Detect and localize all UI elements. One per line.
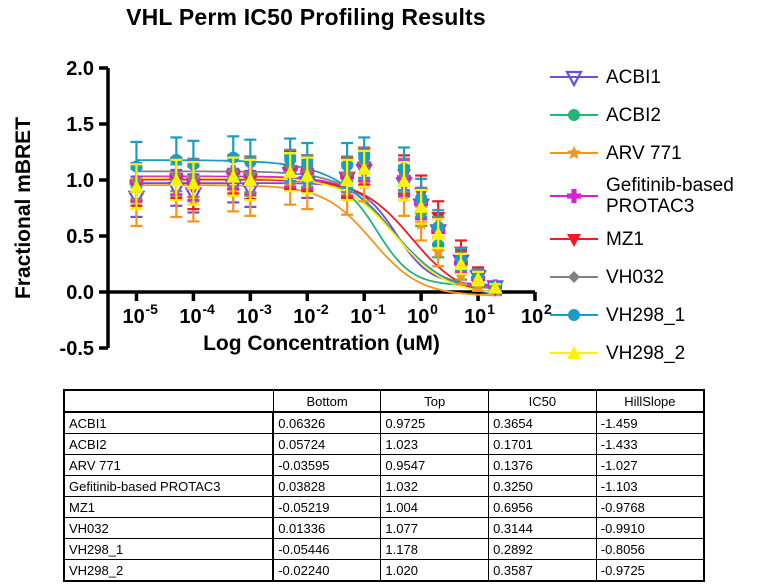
y-axis-title: Fractional mBRET [12,117,35,299]
x-axis-title: Log Concentration (uM) [203,332,440,355]
fit-curve-VH298_2 [137,178,503,293]
table-cell-hillslope: -1.459 [596,412,704,434]
table-cell-top: 1.077 [381,518,489,539]
x-tick-base: 10 [521,306,543,328]
table-cell-hillslope: -1.433 [596,434,704,455]
legend-item-ACBI1[interactable]: ACBI1 [548,58,763,96]
marker-circle [568,309,580,321]
legend-label-VH298_1: VH298_1 [600,305,685,326]
x-tick-label: 10-3 [236,301,272,328]
table-cell-ic50: 0.3250 [489,476,597,497]
table-row: ACBI10.063260.97250.3654-1.459 [64,412,704,434]
legend-item-Gefitinib-based PROTAC3[interactable]: Gefitinib-basedPROTAC3 [548,172,763,220]
table-cell-ic50: 0.1376 [489,455,597,476]
legend-label-ARV 771: ARV 771 [600,143,682,164]
table-row: ARV 771-0.035950.95470.1376-1.027 [64,455,704,476]
table-cell-bottom: 0.03828 [273,476,381,497]
legend-item-VH032[interactable]: VH032 [548,258,763,296]
table-cell-ic50: 0.2892 [489,539,597,560]
table-cell-top: 1.004 [381,497,489,518]
y-tick-label: -0.5 [60,338,94,360]
table-cell-name: ARV 771 [64,455,273,476]
table-cell-hillslope: -0.9768 [596,497,704,518]
table-row: MZ1-0.052191.0040.6956-0.9768 [64,497,704,518]
table-row: ACBI20.057241.0230.1701-1.433 [64,434,704,455]
x-tick-label: 101 [464,301,495,328]
legend-key-VH298_1 [548,302,600,328]
table-cell-bottom: 0.06326 [273,412,381,434]
x-tick-label: 10-4 [179,301,215,328]
table-cell-ic50: 0.6956 [489,497,597,518]
x-tick-label: 100 [407,301,438,328]
legend-label-VH298_2: VH298_2 [600,343,685,364]
table-cell-hillslope: -0.8056 [596,539,704,560]
table-cell-top: 0.9547 [381,455,489,476]
table-cell-top: 1.020 [381,560,489,582]
table-cell-name: VH298_2 [64,560,273,582]
legend-item-MZ1[interactable]: MZ1 [548,220,763,258]
table-header-top: Top [381,390,489,412]
table-cell-top: 0.9725 [381,412,489,434]
table-cell-hillslope: -1.103 [596,476,704,497]
legend-key-VH032 [548,264,600,290]
series-Gefitinib-based PROTAC3 [129,148,502,294]
table-header-bottom: Bottom [273,390,381,412]
table-cell-bottom: 0.05724 [273,434,381,455]
x-tick-label: 10-1 [350,301,386,328]
results-table-wrap: BottomTopIC50HillSlope ACBI10.063260.972… [63,389,705,582]
x-tick-base: 10 [293,306,315,328]
series-VH032 [130,148,501,293]
marker-star [567,146,581,160]
legend-key-ACBI2 [548,102,600,128]
table-row: VH298_1-0.054461.1780.2892-0.8056 [64,539,704,560]
legend-label-Gefitinib-based PROTAC3: Gefitinib-basedPROTAC3 [600,175,734,217]
x-tick-exponent: -3 [259,301,272,317]
table-cell-hillslope: -0.9725 [596,560,704,582]
x-tick-base: 10 [236,306,258,328]
table-cell-top: 1.032 [381,476,489,497]
table-cell-hillslope: -1.027 [596,455,704,476]
marker-triangle-down-open [567,72,581,85]
y-tick-label: 1.5 [66,114,94,136]
marker-circle [568,109,580,121]
table-cell-hillslope: -0.9910 [596,518,704,539]
table-cell-bottom: -0.05219 [273,497,381,518]
table-cell-name: VH032 [64,518,273,539]
x-tick-exponent: -1 [373,301,386,317]
chart-legend: ACBI1ACBI2ARV 771Gefitinib-basedPROTAC3M… [548,58,763,372]
legend-key-MZ1 [548,226,600,252]
legend-item-ACBI2[interactable]: ACBI2 [548,96,763,134]
table-cell-bottom: 0.01336 [273,518,381,539]
x-tick-exponent: 0 [430,301,438,317]
legend-key-ARV 771 [548,140,600,166]
legend-item-VH298_2[interactable]: VH298_2 [548,334,763,372]
table-cell-name: Gefitinib-based PROTAC3 [64,476,273,497]
y-tick-label: 2.0 [66,58,94,80]
legend-label-MZ1: MZ1 [600,229,644,250]
x-tick-base: 10 [407,306,429,328]
table-cell-name: VH298_1 [64,539,273,560]
x-tick-exponent: 1 [487,301,495,317]
legend-key-VH298_2 [548,340,600,366]
table-cell-top: 1.023 [381,434,489,455]
x-tick-base: 10 [350,306,372,328]
table-cell-top: 1.178 [381,539,489,560]
results-table: BottomTopIC50HillSlope ACBI10.063260.972… [63,389,705,582]
marker-plus-v [571,189,576,203]
y-tick-label: 0.0 [66,282,94,304]
legend-item-ARV 771[interactable]: ARV 771 [548,134,763,172]
page-title: VHL Perm IC50 Profiling Results [0,4,612,31]
x-tick-base: 10 [179,306,201,328]
table-cell-name: ACBI1 [64,412,273,434]
x-tick-exponent: -4 [202,301,215,317]
table-row: VH0320.013361.0770.3144-0.9910 [64,518,704,539]
legend-item-VH298_1[interactable]: VH298_1 [548,296,763,334]
x-tick-base: 10 [122,306,144,328]
table-header-hillslope: HillSlope [596,390,704,412]
marker-triangle-down [567,234,581,247]
table-header-ic50: IC50 [489,390,597,412]
marker-diamond [568,271,580,283]
x-tick-label: 10-2 [293,301,329,328]
table-header-row: BottomTopIC50HillSlope [64,390,704,412]
legend-key-Gefitinib-based PROTAC3 [548,183,600,209]
table-cell-bottom: -0.03595 [273,455,381,476]
table-cell-ic50: 0.1701 [489,434,597,455]
table-row: Gefitinib-based PROTAC30.038281.0320.325… [64,476,704,497]
table-header-blank [64,390,273,412]
y-tick-label: 1.0 [66,170,94,192]
table-cell-ic50: 0.3144 [489,518,597,539]
x-tick-base: 10 [464,306,486,328]
table-cell-bottom: -0.05446 [273,539,381,560]
legend-label-ACBI1: ACBI1 [600,67,661,88]
legend-label-VH032: VH032 [600,267,664,288]
x-tick-label: 10-5 [122,301,158,328]
legend-key-ACBI1 [548,64,600,90]
fit-curve-ACBI2 [137,177,503,285]
table-cell-ic50: 0.3654 [489,412,597,434]
fit-curve-Gefitinib-based PROTAC3 [137,176,503,286]
table-cell-bottom: -0.02240 [273,560,381,582]
x-tick-exponent: -5 [145,301,158,317]
table-cell-ic50: 0.3587 [489,560,597,582]
table-cell-name: ACBI2 [64,434,273,455]
y-tick-label: 0.5 [66,226,94,248]
table-row: VH298_2-0.022401.0200.3587-0.9725 [64,560,704,582]
x-tick-exponent: -2 [316,301,329,317]
legend-label-ACBI2: ACBI2 [600,105,661,126]
table-cell-name: MZ1 [64,497,273,518]
